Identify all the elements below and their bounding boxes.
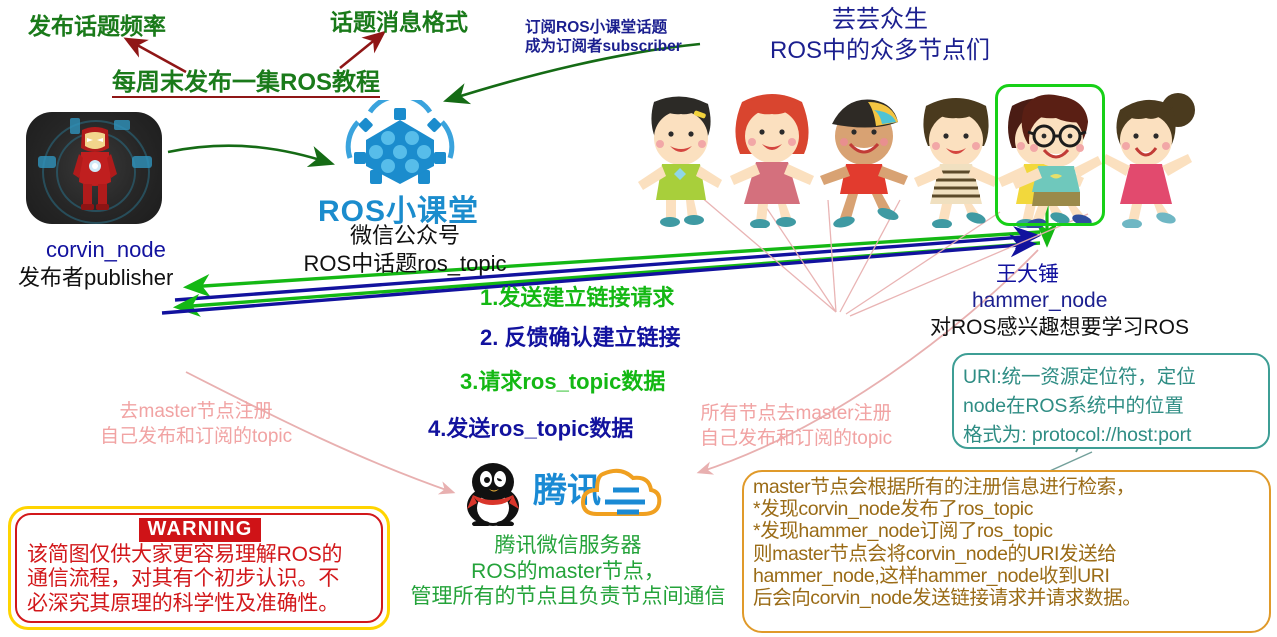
master-box-line-1: master节点会根据所有的注册信息进行检索，: [753, 476, 1263, 498]
step-label-3: 3.请求ros_topic数据: [460, 371, 665, 393]
annotation-topic-message-format: 话题消息格式: [330, 10, 468, 36]
master-node-caption: 腾讯微信服务器 ROS的master节点， 管理所有的节点且负责节点间通信: [398, 533, 738, 610]
topic-caption-line-1: 微信公众号: [290, 222, 520, 250]
step-label-4: 4.发送ros_topic数据: [428, 418, 633, 440]
warning-line-3: 必深究其原理的科学性及准确性。: [27, 592, 373, 616]
weekly-publish-part1: 每周末发布一集: [112, 69, 280, 98]
ros-turtle-gear-icon: [330, 100, 470, 196]
step-label-1: 1.发送建立链接请求: [480, 287, 674, 309]
hammer-node-highlight-box[interactable]: [995, 84, 1105, 226]
master-caption-line-1: 腾讯微信服务器: [398, 533, 738, 559]
warning-badge: WARNING: [139, 518, 260, 542]
warning-line-1: 该简图仅供大家更容易理解ROS的: [27, 543, 373, 567]
master-box-line-4: 则master节点会将corvin_node的URI发送给: [753, 543, 1263, 565]
master-box-line-6: 后会向corvin_node发送链接请求并请求数据。: [753, 587, 1263, 609]
child-node-2: [722, 92, 822, 228]
ironman-avatar-icon[interactable]: [26, 112, 162, 224]
register-note-right-line-1: 所有节点去master注册: [700, 402, 892, 427]
master-caption-line-2: ROS的master节点，: [398, 559, 738, 585]
master-box-line-2: *发现corvin_node发布了ros_topic: [753, 498, 1263, 520]
qq-penguin-tencent-cloud-icon: 腾讯: [455, 462, 685, 526]
register-note-left-line-2: 自己发布和订阅的topic: [100, 425, 292, 450]
topic-caption: 微信公众号 ROS中话题ros_topic: [290, 222, 520, 278]
master-box-line-5: hammer_node,这样hammer_node收到URI: [753, 565, 1263, 587]
hud-glyph-left: [38, 156, 56, 168]
master-caption-line-3: 管理所有的节点且负责节点间通信: [398, 584, 738, 610]
uri-callout-box: URI:统一资源定位符，定位 node在ROS系统中的位置 格式为: proto…: [952, 353, 1270, 449]
weekly-publish-part2: ROS教程: [280, 69, 380, 98]
register-note-right: 所有节点去master注册 自己发布和订阅的topic: [700, 402, 892, 451]
child-node-3: [812, 90, 916, 228]
subscribe-line-1: 订阅ROS小课堂话题: [525, 18, 682, 37]
child-node-1: [632, 96, 730, 228]
warning-box-inner: WARNING 该简图仅供大家更容易理解ROS的 通信流程，对其有个初步认识。不…: [15, 513, 383, 623]
master-box-line-3: *发现hammer_node订阅了ros_topic: [753, 520, 1263, 542]
subscriber-label: 王大锤 hammer_node 对ROS感兴趣想要学习ROS: [930, 262, 1189, 341]
ros-communication-diagram: 发布话题频率 话题消息格式 每周末发布一集ROS教程 订阅ROS小课堂话题 成为…: [0, 0, 1277, 637]
topic-caption-line-2: ROS中话题ros_topic: [290, 250, 520, 278]
ironman-figure-icon: [72, 126, 118, 212]
many-nodes-line-2: ROS中的众多节点们: [770, 35, 990, 66]
publisher-label: corvin_node 发布者publisher: [18, 236, 173, 291]
uri-line-3: 格式为: protocol://host:port: [963, 418, 1260, 447]
subscriber-person-name: 王大锤: [930, 262, 1189, 288]
annotation-subscribe: 订阅ROS小课堂话题 成为订阅者subscriber: [525, 18, 682, 56]
many-nodes-line-1: 芸芸众生: [770, 4, 990, 35]
master-explanation-box: master节点会根据所有的注册信息进行检索， *发现corvin_node发布…: [742, 470, 1271, 633]
child-node-7: [1102, 92, 1206, 228]
uri-line-2: node在ROS系统中的位置: [963, 389, 1260, 418]
annotation-weekly-publish: 每周末发布一集ROS教程: [112, 70, 380, 97]
register-note-left: 去master节点注册 自己发布和订阅的topic: [100, 400, 292, 449]
hud-glyph-right: [132, 156, 152, 168]
warning-box: WARNING 该简图仅供大家更容易理解ROS的 通信流程，对其有个初步认识。不…: [8, 506, 390, 630]
warning-text: 该简图仅供大家更容易理解ROS的 通信流程，对其有个初步认识。不 必深究其原理的…: [27, 543, 373, 616]
annotation-many-nodes: 芸芸众生 ROS中的众多节点们: [770, 4, 990, 66]
publisher-role: 发布者publisher: [18, 264, 173, 292]
step-label-2: 2. 反馈确认建立链接: [480, 327, 680, 349]
child-node-4: [906, 94, 1006, 228]
subscriber-desc: 对ROS感兴趣想要学习ROS: [930, 315, 1189, 341]
uri-line-1: URI:统一资源定位符，定位: [963, 360, 1260, 389]
register-note-left-line-1: 去master节点注册: [100, 400, 292, 425]
warning-line-2: 通信流程，对其有个初步认识。不: [27, 567, 373, 591]
arrow-freq: [128, 40, 186, 72]
arrow-format: [340, 34, 382, 68]
arrow-publish-to-topic: [168, 146, 330, 163]
subscribe-line-2: 成为订阅者subscriber: [525, 37, 682, 56]
subscriber-node-name: hammer_node: [930, 288, 1189, 314]
publisher-node-name: corvin_node: [18, 236, 173, 264]
ros-nodes-children-illustration: [626, 78, 1276, 228]
register-note-right-line-2: 自己发布和订阅的topic: [700, 427, 892, 452]
annotation-publish-frequency: 发布话题频率: [28, 14, 166, 40]
